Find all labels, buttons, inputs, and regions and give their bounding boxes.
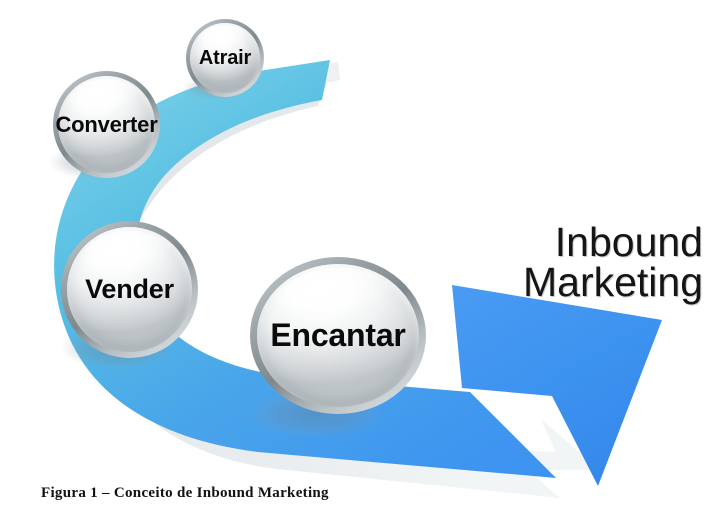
- stage-sphere-vender[interactable]: Vender: [61, 221, 198, 358]
- stage-sphere-converter[interactable]: Converter: [53, 71, 160, 178]
- stage-sphere-atrair[interactable]: Atrair: [186, 19, 264, 97]
- headline-line-2: Marketing: [523, 262, 703, 302]
- inbound-marketing-figure: Atrair Converter Vender Encantar Inbound…: [0, 0, 725, 528]
- stage-label-vender: Vender: [85, 274, 174, 305]
- stage-label-encantar: Encantar: [270, 317, 405, 354]
- figure-headline: Inbound Marketing: [523, 222, 703, 302]
- stage-sphere-encantar[interactable]: Encantar: [250, 257, 426, 414]
- stage-label-converter: Converter: [55, 112, 157, 138]
- stage-label-atrair: Atrair: [199, 47, 251, 70]
- figure-caption: Figura 1 – Conceito de Inbound Marketing: [41, 485, 329, 502]
- headline-line-1: Inbound: [523, 222, 703, 262]
